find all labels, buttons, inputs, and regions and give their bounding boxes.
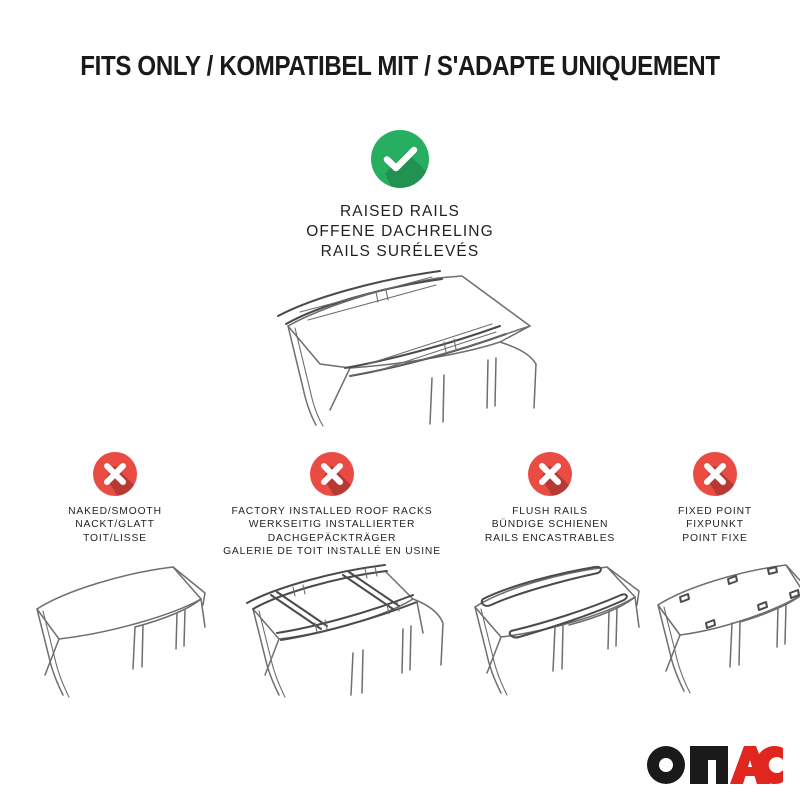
car-roof-naked-smooth-illustration — [15, 557, 215, 707]
x-mark-glyph — [693, 452, 737, 496]
flush-rails-label-de: BÜNDIGE SCHIENEN — [455, 518, 645, 531]
car-roof-with-flush-rails-illustration — [455, 557, 645, 707]
check-mark-glyph — [371, 130, 429, 188]
compatible-label-en: RAISED RAILS — [200, 202, 600, 222]
compatible-label-de: OFFENE DACHRELING — [200, 222, 600, 242]
naked-smooth-label-en: NAKED/SMOOTH — [15, 505, 215, 518]
naked-smooth-label-de: NACKT/GLATT — [15, 518, 215, 531]
x-circle-icon — [310, 452, 354, 496]
factory-roof-racks-label-en: FACTORY INSTALLED ROOF RACKS — [207, 505, 457, 518]
header: FITS ONLY / KOMPATIBEL MIT / S'ADAPTE UN… — [0, 50, 800, 82]
incompatible-item-flush-rails: FLUSH RAILS BÜNDIGE SCHIENEN RAILS ENCAS… — [455, 452, 645, 707]
fixed-point-label-de: FIXPUNKT — [640, 518, 790, 531]
incompatible-item-naked-smooth: NAKED/SMOOTH NACKT/GLATT TOIT/LISSE — [15, 452, 215, 707]
factory-roof-racks-label-de-2: DACHGEPÄCKTRÄGER — [207, 532, 457, 545]
car-roof-with-factory-crossbars-illustration — [207, 563, 457, 713]
incompatible-item-fixed-point: FIXED POINT FIXPUNKT POINT FIXE — [640, 452, 790, 707]
x-mark-glyph — [310, 452, 354, 496]
compatible-label-fr: RAILS SURÉLEVÉS — [200, 242, 600, 262]
flush-rails-labels: FLUSH RAILS BÜNDIGE SCHIENEN RAILS ENCAS… — [455, 505, 645, 545]
x-mark-glyph — [93, 452, 137, 496]
factory-roof-racks-label-fr: GALERIE DE TOIT INSTALLÉ EN USINE — [207, 545, 457, 558]
page-title: FITS ONLY / KOMPATIBEL MIT / S'ADAPTE UN… — [56, 50, 744, 82]
check-circle-icon — [371, 130, 429, 188]
factory-roof-racks-label-de-1: WERKSEITIG INSTALLIERTER — [207, 518, 457, 531]
incompatible-item-factory-roof-racks: FACTORY INSTALLED ROOF RACKS WERKSEITIG … — [207, 452, 457, 713]
x-circle-icon — [693, 452, 737, 496]
car-roof-with-fixed-points-illustration — [640, 557, 790, 707]
flush-rails-label-en: FLUSH RAILS — [455, 505, 645, 518]
factory-roof-racks-labels: FACTORY INSTALLED ROOF RACKS WERKSEITIG … — [207, 505, 457, 559]
x-circle-icon — [93, 452, 137, 496]
omac-letter-o — [647, 746, 685, 784]
compatible-labels: RAISED RAILS OFFENE DACHRELING RAILS SUR… — [200, 202, 600, 262]
fixed-point-label-en: FIXED POINT — [640, 505, 790, 518]
x-circle-icon — [528, 452, 572, 496]
omac-logo — [644, 744, 784, 786]
omac-logo-mark — [644, 744, 784, 786]
fixed-point-label-fr: POINT FIXE — [640, 532, 790, 545]
car-roof-with-raised-rails-illustration — [200, 268, 600, 433]
x-mark-glyph — [528, 452, 572, 496]
flush-rails-label-fr: RAILS ENCASTRABLES — [455, 532, 645, 545]
naked-smooth-label-fr: TOIT/LISSE — [15, 532, 215, 545]
fixed-point-labels: FIXED POINT FIXPUNKT POINT FIXE — [640, 505, 790, 545]
incompatible-section: NAKED/SMOOTH NACKT/GLATT TOIT/LISSE — [0, 452, 800, 722]
compatible-section: RAISED RAILS OFFENE DACHRELING RAILS SUR… — [200, 130, 600, 433]
naked-smooth-labels: NAKED/SMOOTH NACKT/GLATT TOIT/LISSE — [15, 505, 215, 545]
